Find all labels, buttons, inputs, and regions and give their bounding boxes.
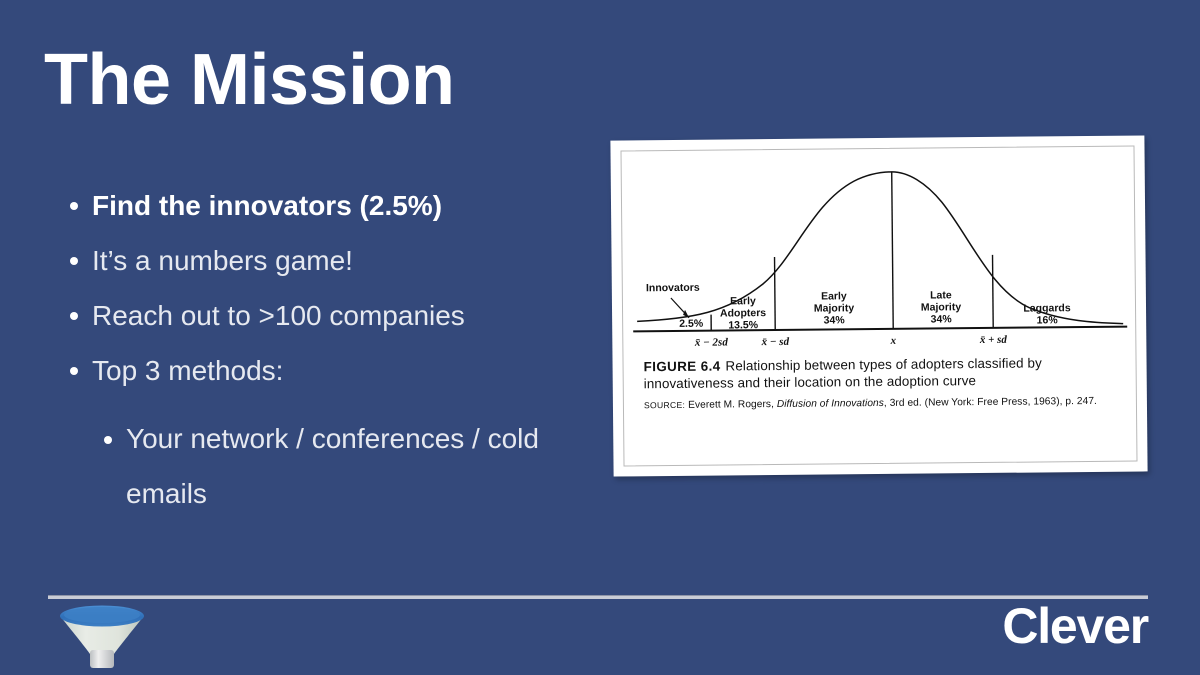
segment-label-early-majority-1: Early bbox=[821, 290, 847, 302]
figure-caption: FIGURE 6.4Relationship between types of … bbox=[643, 354, 1122, 414]
source-publication: , 3rd ed. (New York: Free Press, 1963), … bbox=[884, 396, 1097, 409]
xtick-mean: x bbox=[890, 335, 897, 347]
figure-card: Innovators 2.5% Early Adopters 13.5% Ear… bbox=[610, 135, 1147, 476]
list-item-label: Top 3 methods: bbox=[92, 357, 590, 385]
bullet-list: Find the innovators (2.5%) It’s a number… bbox=[70, 192, 590, 522]
segment-label-late-majority-2: Majority bbox=[921, 301, 962, 313]
list-item-label: Reach out to >100 companies bbox=[92, 302, 590, 330]
figure-number: FIGURE 6.4 bbox=[644, 359, 721, 375]
list-item-label: It’s a numbers game! bbox=[92, 247, 590, 275]
funnel-icon bbox=[56, 604, 148, 670]
segment-label-late-majority-1: Late bbox=[930, 289, 952, 301]
segment-label-early-adopters-1: Early bbox=[730, 295, 756, 307]
bullet-dot-icon bbox=[104, 436, 112, 444]
segment-value-laggards: 16% bbox=[1037, 314, 1059, 326]
list-item: Top 3 methods: bbox=[70, 357, 590, 385]
bullet-dot-icon bbox=[70, 312, 78, 320]
sub-list-item-label: Your network / conferences / cold emails bbox=[126, 412, 590, 522]
list-item: Find the innovators (2.5%) bbox=[70, 192, 590, 220]
sub-list-item: Your network / conferences / cold emails bbox=[104, 412, 590, 522]
bullet-dot-icon bbox=[70, 202, 78, 210]
segment-label-laggards: Laggards bbox=[1023, 302, 1071, 314]
figure-caption-main: FIGURE 6.4Relationship between types of … bbox=[643, 354, 1121, 393]
xtick-mean-minus-sd: x̄ − sd bbox=[761, 336, 790, 348]
adoption-curve-chart: Innovators 2.5% Early Adopters 13.5% Ear… bbox=[622, 149, 1138, 354]
segment-value-early-majority: 34% bbox=[824, 314, 846, 326]
footer-divider bbox=[48, 595, 1148, 599]
segment-label-innovators: Innovators bbox=[646, 282, 700, 295]
list-item: It’s a numbers game! bbox=[70, 247, 590, 275]
page-title: The Mission bbox=[44, 44, 455, 116]
source-tag: SOURCE: bbox=[644, 400, 685, 410]
clever-logo: Clever bbox=[1002, 601, 1148, 651]
xtick-mean-plus-sd: x̄ + sd bbox=[979, 334, 1008, 346]
axis-baseline bbox=[633, 327, 1127, 332]
segment-label-early-adopters-2: Adopters bbox=[720, 307, 766, 319]
source-title: Diffusion of Innovations bbox=[777, 398, 884, 410]
funnel-rim-inner bbox=[64, 607, 140, 623]
xtick-mean-minus-2sd: x̄ − 2sd bbox=[694, 336, 729, 348]
figure-source: SOURCE: Everett M. Rogers, Diffusion of … bbox=[644, 395, 1122, 413]
list-item-label: Find the innovators (2.5%) bbox=[92, 192, 590, 220]
divider-late-majority bbox=[993, 255, 994, 328]
segment-label-early-majority-2: Majority bbox=[814, 302, 855, 314]
presentation-slide: The Mission Find the innovators (2.5%) I… bbox=[0, 0, 1200, 675]
segment-value-innovators: 2.5% bbox=[679, 318, 704, 330]
figure-inner-frame: Innovators 2.5% Early Adopters 13.5% Ear… bbox=[620, 146, 1137, 467]
source-author: Everett M. Rogers, bbox=[688, 399, 777, 411]
bullet-dot-icon bbox=[70, 367, 78, 375]
segment-value-late-majority: 34% bbox=[931, 313, 953, 325]
bullet-dot-icon bbox=[70, 257, 78, 265]
segment-value-early-adopters: 13.5% bbox=[728, 319, 759, 331]
divider-early-adopters bbox=[775, 257, 776, 330]
funnel-stem bbox=[90, 650, 114, 668]
divider-mean bbox=[892, 172, 894, 329]
list-item: Reach out to >100 companies bbox=[70, 302, 590, 330]
